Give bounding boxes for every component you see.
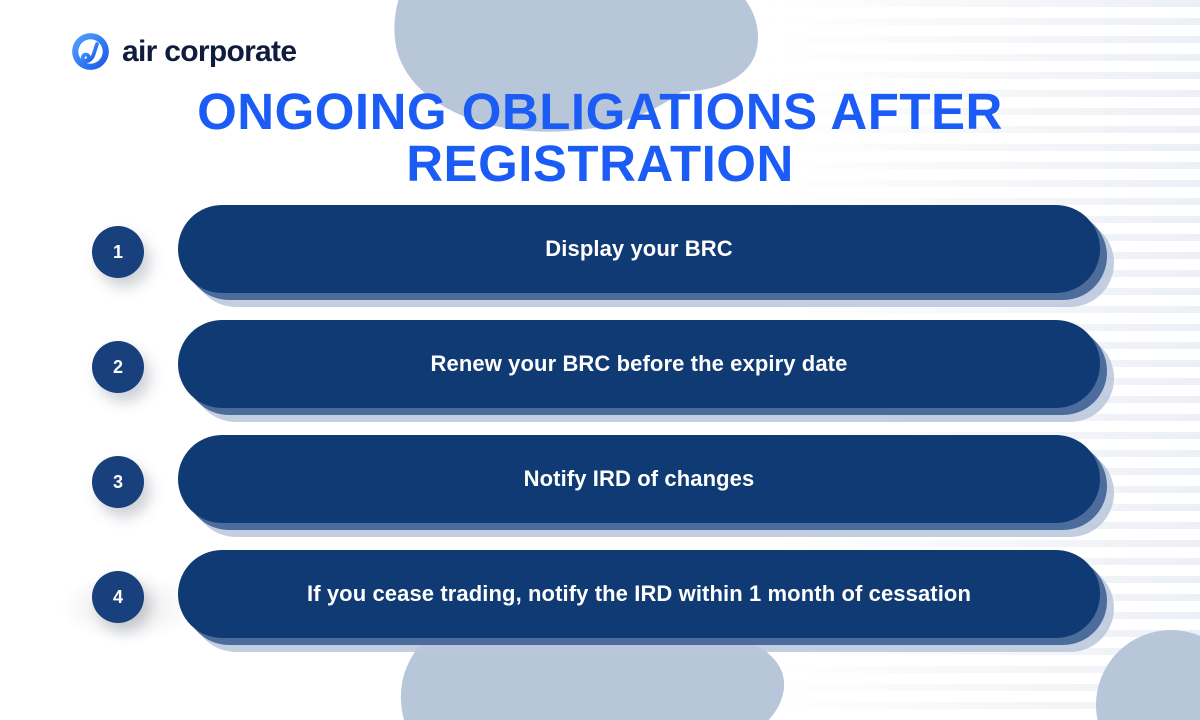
list-item: 3 Notify IRD of changes xyxy=(0,430,1200,545)
list-item: 2 Renew your BRC before the expiry date xyxy=(0,315,1200,430)
step-label: If you cease trading, notify the IRD wit… xyxy=(261,581,1017,607)
step-label: Renew your BRC before the expiry date xyxy=(385,351,894,377)
air-corporate-swirl-logo-icon xyxy=(70,31,111,72)
list-item: 4 If you cease trading, notify the IRD w… xyxy=(0,545,1200,660)
step-bar[interactable]: Display your BRC xyxy=(178,205,1100,293)
step-bar[interactable]: If you cease trading, notify the IRD wit… xyxy=(178,550,1100,638)
step-bar-body: Renew your BRC before the expiry date xyxy=(178,320,1100,408)
step-bar-body: If you cease trading, notify the IRD wit… xyxy=(178,550,1100,638)
step-bar[interactable]: Notify IRD of changes xyxy=(178,435,1100,523)
step-label: Notify IRD of changes xyxy=(478,466,801,492)
brand-logo: air corporate xyxy=(70,31,296,72)
step-label: Display your BRC xyxy=(499,236,778,262)
step-number-badge: 4 xyxy=(92,571,144,623)
list-item: 1 Display your BRC xyxy=(0,200,1200,315)
page-title: ONGOING OBLIGATIONS AFTER REGISTRATION xyxy=(0,86,1200,190)
brand-name: air corporate xyxy=(122,37,296,67)
step-number-badge: 2 xyxy=(92,341,144,393)
obligations-list: 1 Display your BRC 2 Renew your BRC befo… xyxy=(0,200,1200,660)
step-number-badge: 1 xyxy=(92,226,144,278)
step-bar-body: Notify IRD of changes xyxy=(178,435,1100,523)
infographic-canvas: air corporate ONGOING OBLIGATIONS AFTER … xyxy=(0,0,1200,720)
step-number-badge: 3 xyxy=(92,456,144,508)
step-bar-body: Display your BRC xyxy=(178,205,1100,293)
step-bar[interactable]: Renew your BRC before the expiry date xyxy=(178,320,1100,408)
